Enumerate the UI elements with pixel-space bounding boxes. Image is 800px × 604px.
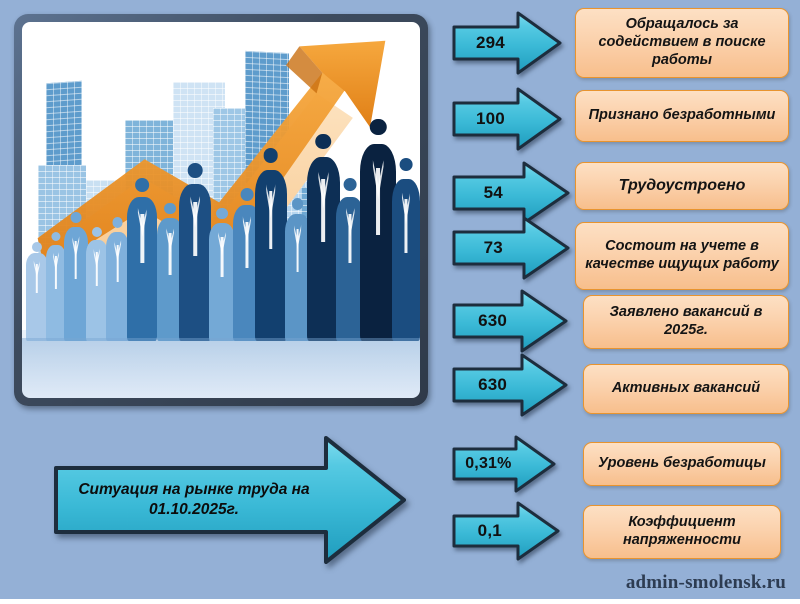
person-silhouette bbox=[392, 179, 420, 340]
metric-label: Заявлено вакансий в 2025г. bbox=[592, 304, 780, 339]
person-silhouette bbox=[64, 227, 88, 340]
slide-canvas: 294 Обращалось за содействием в поиске р… bbox=[0, 0, 800, 604]
value-arrow-6[interactable]: 630 bbox=[452, 352, 568, 418]
metric-label: Состоит на учете в качестве ищущих работ… bbox=[584, 238, 780, 273]
person-silhouette bbox=[307, 157, 341, 340]
person-silhouette bbox=[209, 223, 235, 341]
value-arrow-2[interactable]: 100 bbox=[452, 86, 562, 152]
value-arrow-1[interactable]: 294 bbox=[452, 10, 562, 76]
person-silhouette bbox=[360, 144, 396, 340]
value-arrow-5[interactable]: 630 bbox=[452, 288, 568, 354]
person-silhouette bbox=[255, 170, 287, 340]
metric-label: Коэффициент напряженности bbox=[592, 514, 772, 549]
title-banner-arrow[interactable]: Ситуация на рынке труда на 01.10.2025г. bbox=[50, 432, 410, 568]
value-arrow-8[interactable]: 0,1 bbox=[452, 500, 560, 562]
metric-label-box-5[interactable]: Заявлено вакансий в 2025г. bbox=[583, 295, 789, 349]
footer-url: admin-smolensk.ru bbox=[626, 572, 786, 594]
metric-label-box-7[interactable]: Уровень безработицы bbox=[583, 442, 781, 486]
metric-label-box-6[interactable]: Активных вакансий bbox=[583, 364, 789, 414]
metric-label-box-1[interactable]: Обращалось за содействием в поиске работ… bbox=[575, 8, 789, 78]
floor-reflection bbox=[22, 338, 420, 398]
person-silhouette bbox=[46, 245, 66, 341]
person-silhouette bbox=[26, 253, 48, 340]
metric-label-box-3[interactable]: Трудоустроено bbox=[575, 162, 789, 210]
person-silhouette bbox=[106, 232, 130, 341]
bottom-strip bbox=[0, 599, 800, 604]
metric-label-box-2[interactable]: Признано безработными bbox=[575, 90, 789, 142]
metric-label-box-4[interactable]: Состоит на учете в качестве ищущих работ… bbox=[575, 222, 789, 290]
person-silhouette bbox=[86, 240, 108, 340]
person-silhouette bbox=[179, 184, 211, 341]
metric-label-box-8[interactable]: Коэффициент напряженности bbox=[583, 505, 781, 559]
metric-label: Уровень безработицы bbox=[598, 455, 766, 473]
labor-market-photo bbox=[22, 22, 420, 398]
metric-label: Признано безработными bbox=[589, 107, 776, 125]
value-arrow-7[interactable]: 0,31% bbox=[452, 434, 556, 494]
metric-label: Обращалось за содействием в поиске работ… bbox=[584, 16, 780, 69]
banner-arrow-icon bbox=[50, 432, 410, 568]
photo-frame bbox=[14, 14, 428, 406]
metric-label: Активных вакансий bbox=[612, 380, 760, 398]
value-arrow-4[interactable]: 73 bbox=[452, 215, 570, 281]
metric-label: Трудоустроено bbox=[619, 176, 746, 196]
person-silhouette bbox=[127, 197, 157, 341]
